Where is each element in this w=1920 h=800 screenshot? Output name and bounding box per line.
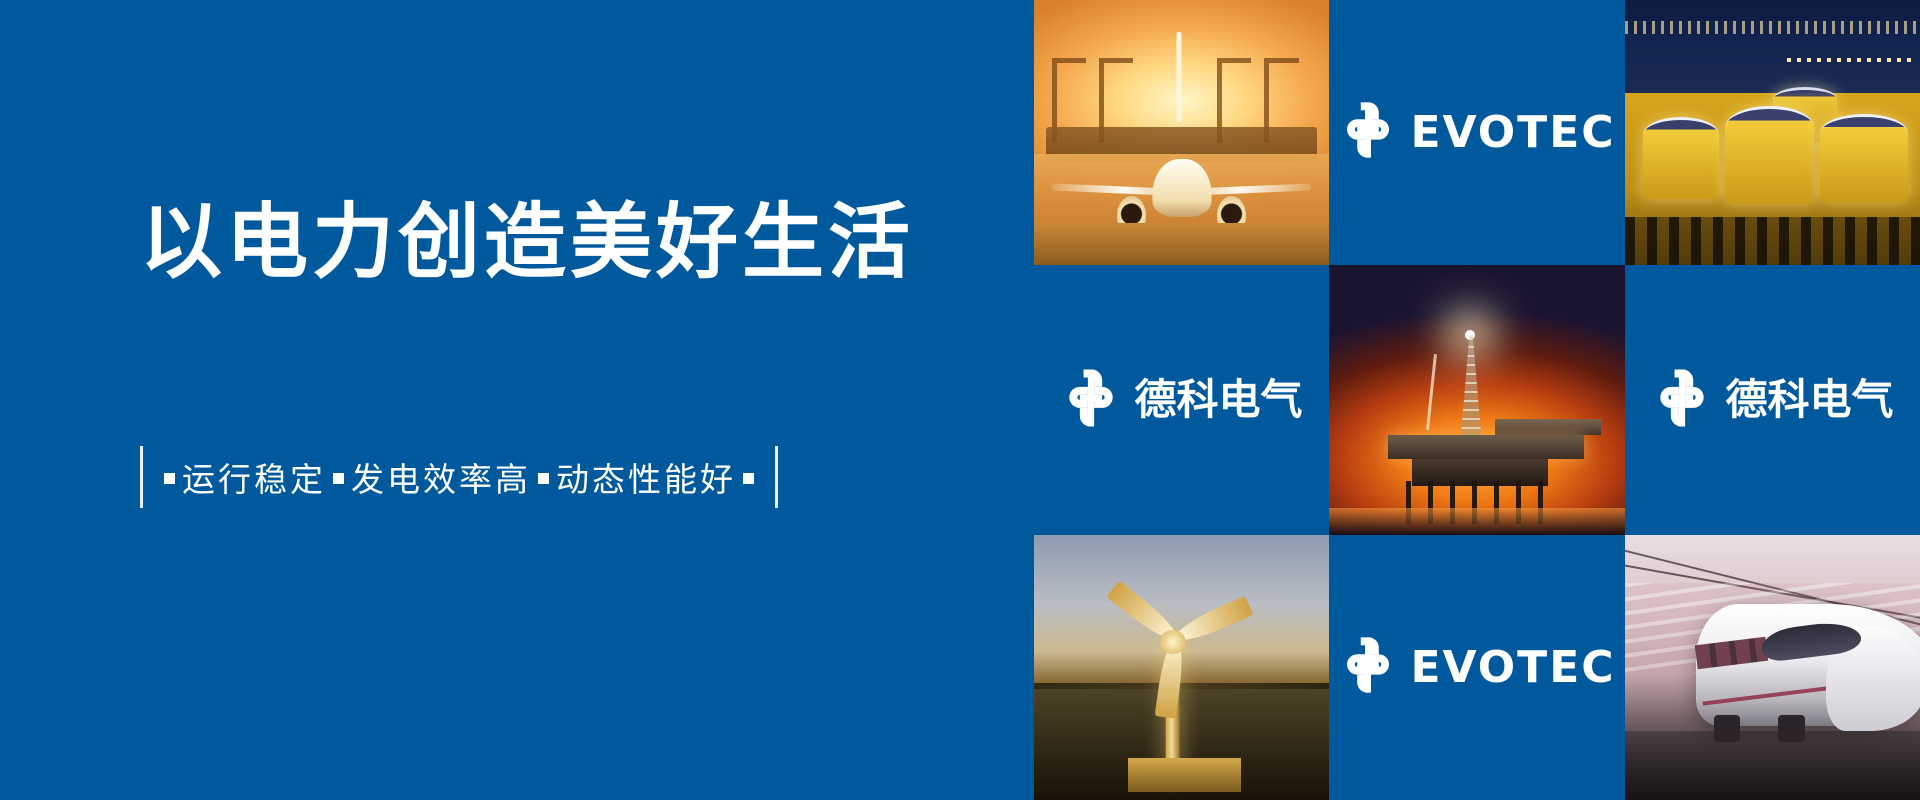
page-title: 以电力创造美好生活 — [140, 202, 914, 284]
mosaic-cell-logo-deke-cn-right: 德科电气 — [1625, 265, 1920, 535]
mosaic-cell-logo-deke-cn-left: 德科电气 — [1034, 265, 1329, 535]
tagline-item-1: 运行稳定 — [182, 453, 326, 501]
oil-tanks-night-photo — [1625, 0, 1920, 265]
evotec-pinwheel-logo-icon — [1651, 367, 1713, 434]
deke-wordmark: 德科电气 — [1134, 379, 1302, 421]
bullet-icon — [333, 473, 344, 484]
deke-wordmark: 德科电气 — [1725, 379, 1893, 421]
tagline-item-2: 发电效率高 — [351, 453, 531, 501]
wind-turbine-photo — [1034, 535, 1329, 800]
evotec-wordmark: EVOTEC — [1410, 111, 1615, 155]
tagline-item-3: 动态性能好 — [556, 453, 736, 501]
bullet-icon — [538, 473, 549, 484]
mosaic-cell-oil-tanks-night-photo — [1625, 0, 1920, 265]
promo-banner: 以电力创造美好生活 运行稳定 发电效率高 动态性能好 — [0, 0, 1920, 800]
mosaic-cell-wind-turbine-photo — [1034, 535, 1329, 800]
mosaic-cell-logo-evotec-en: EVOTEC — [1329, 0, 1625, 265]
image-mosaic-grid: EVOTEC — [1034, 0, 1920, 800]
airport-sunset-photo — [1034, 0, 1329, 265]
mosaic-cell-oil-rig-photo — [1329, 265, 1625, 535]
high-speed-train-photo — [1625, 535, 1920, 800]
evotec-pinwheel-logo-icon — [1338, 635, 1398, 700]
tagline-right-rule — [775, 446, 778, 508]
evotec-wordmark: EVOTEC — [1410, 646, 1615, 690]
mosaic-cell-high-speed-train-photo — [1625, 535, 1920, 800]
mosaic-cell-logo-evotec-en-bottom: EVOTEC — [1329, 535, 1625, 800]
copy-block: 以电力创造美好生活 运行稳定 发电效率高 动态性能好 — [0, 0, 1034, 800]
oil-rig-photo — [1329, 265, 1625, 535]
evotec-pinwheel-logo-icon — [1338, 100, 1398, 165]
mosaic-cell-airport-sunset-photo — [1034, 0, 1329, 265]
evotec-pinwheel-logo-icon — [1060, 367, 1122, 434]
bullet-icon — [743, 473, 754, 484]
tagline-left-rule — [140, 446, 143, 508]
tagline: 运行稳定 发电效率高 动态性能好 — [140, 440, 778, 514]
bullet-icon — [164, 473, 175, 484]
